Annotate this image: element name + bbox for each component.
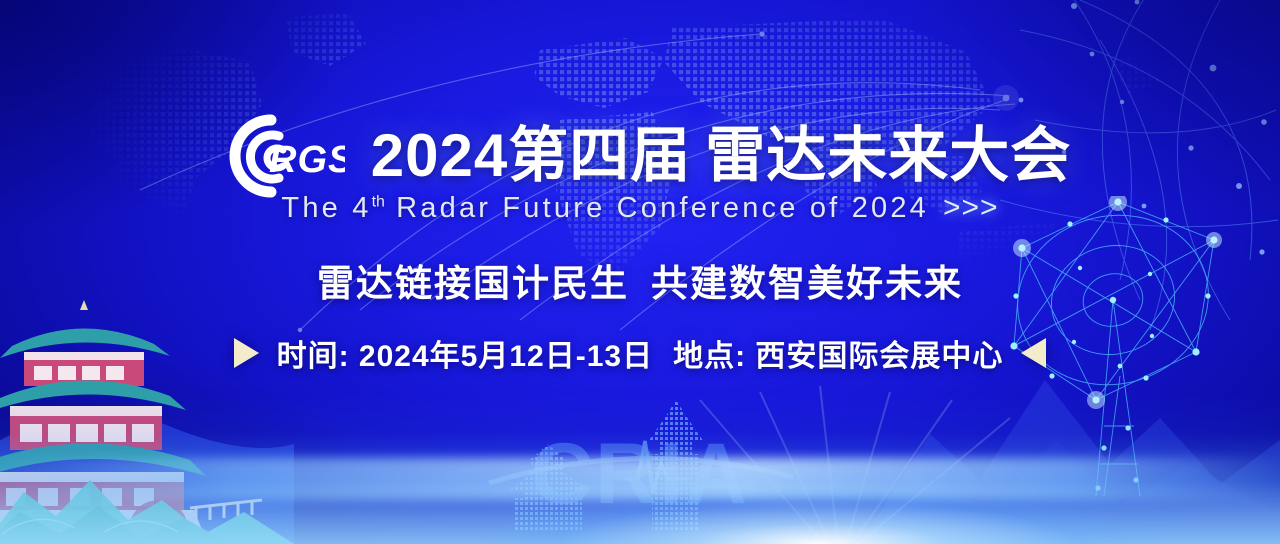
tagline-left-text: 雷达链接国计民生 [317, 263, 629, 304]
info-text: 时间: 2024年5月12日-13日地点: 西安国际会展中心 [277, 331, 1004, 375]
crgs-logo-icon: RGS [209, 110, 345, 202]
subtitle-before: The 4 [281, 192, 371, 224]
title-main-text: 2024第四届 [371, 122, 691, 189]
subtitle-row: The 4th Radar Future Conference of 2024 … [0, 191, 1280, 225]
subtitle-after: Radar Future Conference of 2024 [385, 192, 929, 224]
english-subtitle: The 4th Radar Future Conference of 2024 [281, 192, 929, 225]
subtitle-ordinal: th [372, 193, 385, 210]
logo-wordmark: RGS [269, 139, 345, 181]
info-row: 时间: 2024年5月12日-13日地点: 西安国际会展中心 [0, 331, 1280, 375]
title-sub-text: 雷达未来大会 [705, 122, 1071, 189]
venue-value: 西安国际会展中心 [755, 340, 1003, 373]
date-value: 2024年5月12日-13日 [359, 340, 653, 373]
date-label: 时间: [277, 340, 350, 373]
chevrons-icon: >>> [943, 191, 999, 225]
banner-content: RGS 2024第四届雷达未来大会 The 4th Radar Future C… [0, 0, 1280, 544]
triangle-left-icon [1021, 338, 1046, 368]
tagline-right-text: 共建数智美好未来 [651, 263, 963, 304]
conference-banner: CRIA [0, 0, 1280, 544]
page-title: 2024第四届雷达未来大会 [371, 126, 1071, 186]
title-row: RGS 2024第四届雷达未来大会 [0, 110, 1280, 202]
venue-label: 地点: [673, 340, 746, 373]
triangle-right-icon [234, 338, 259, 368]
tagline: 雷达链接国计民生共建数智美好未来 [0, 253, 1280, 307]
